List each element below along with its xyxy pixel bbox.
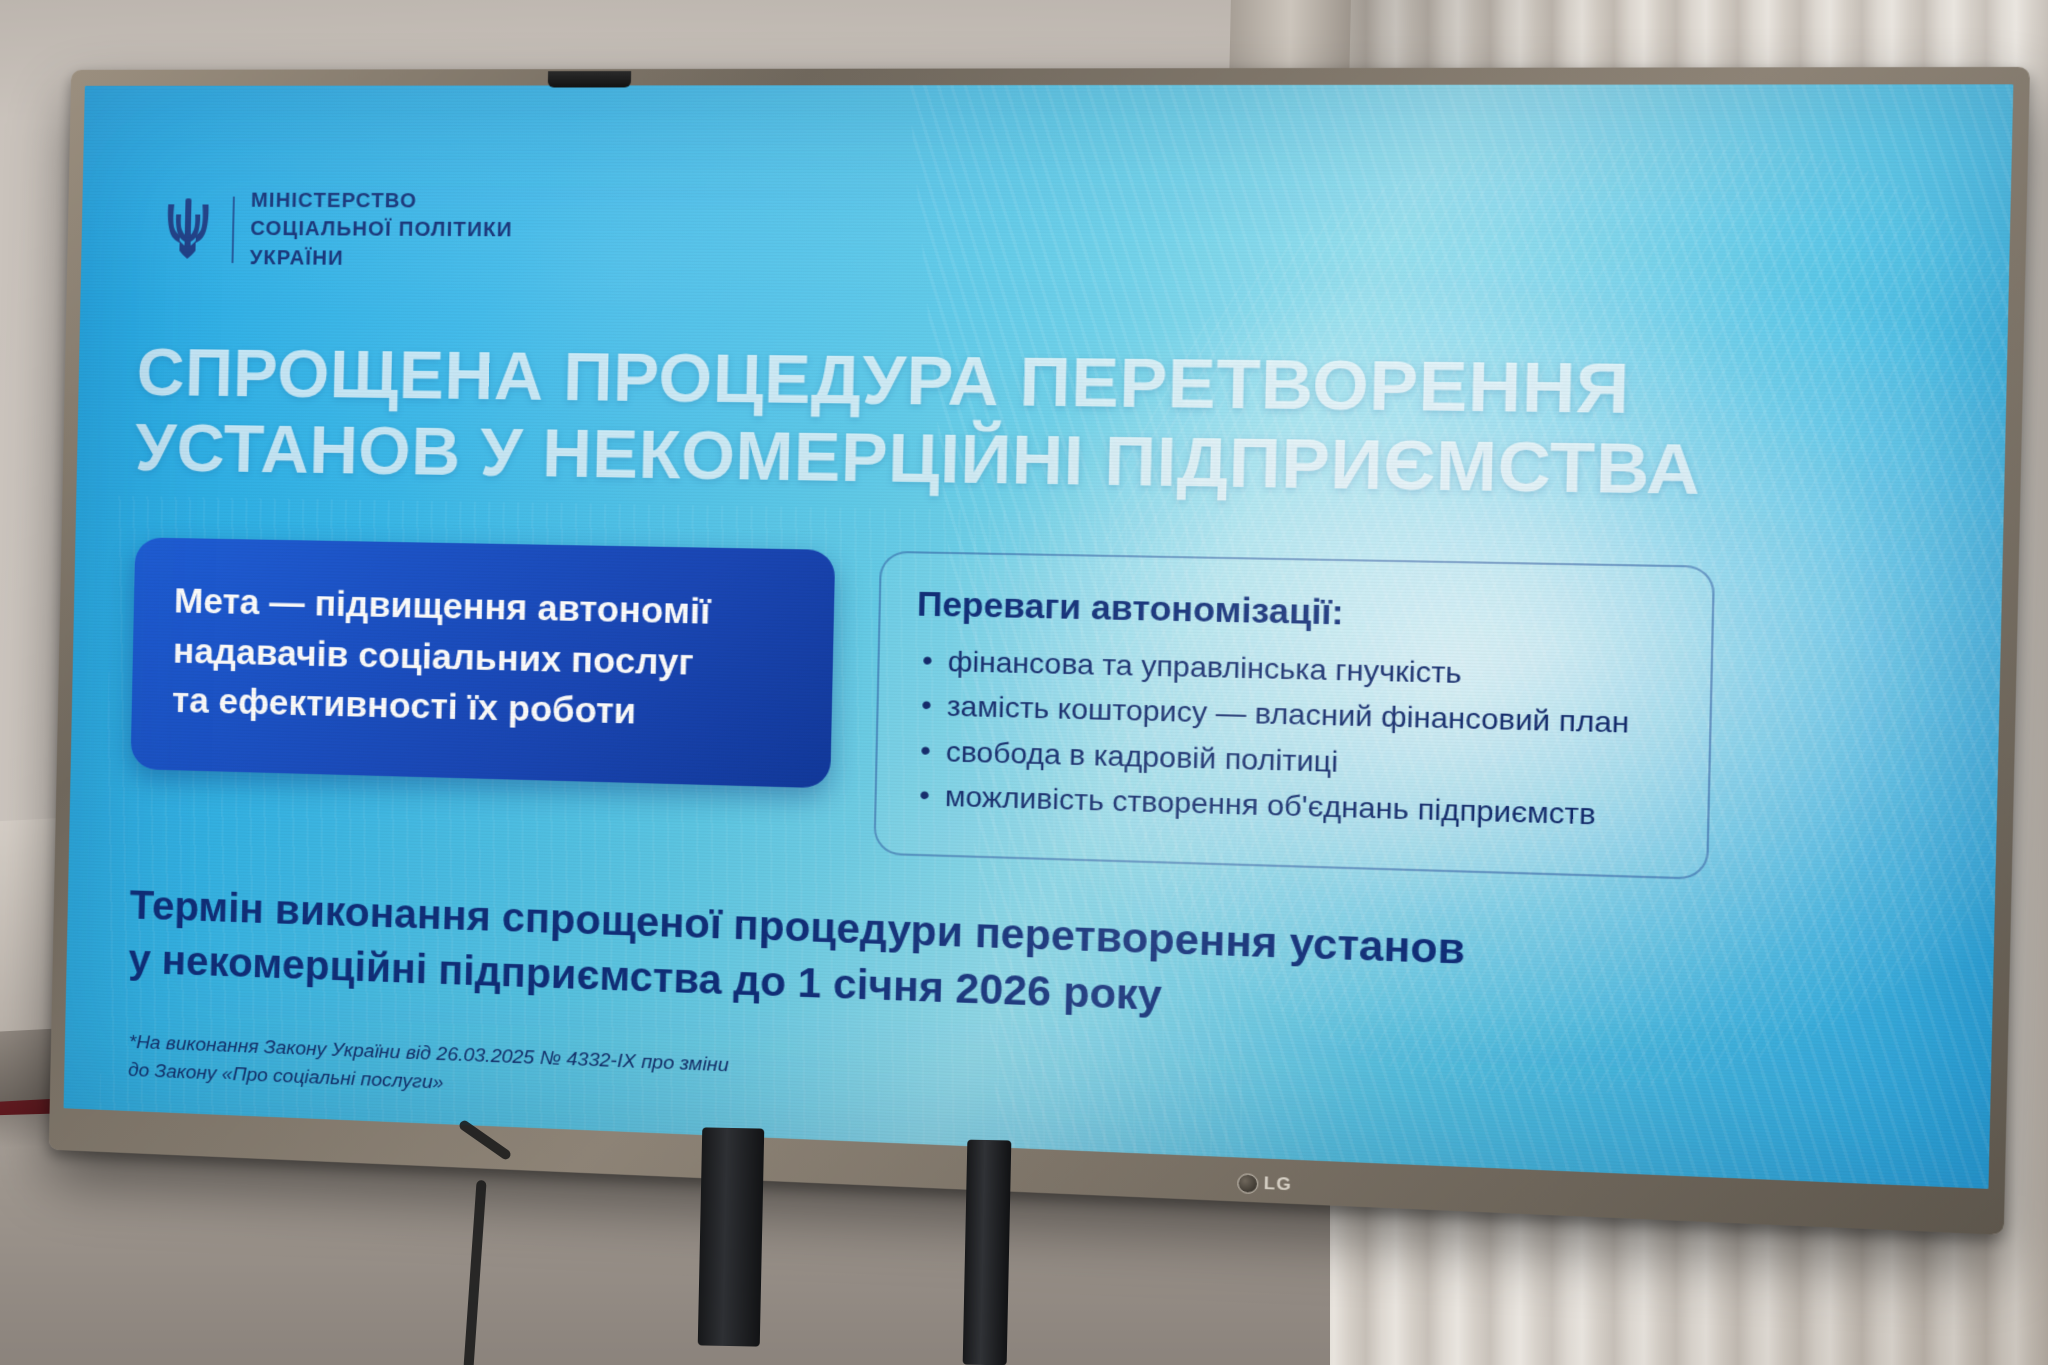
ministry-logo-text: МІНІСТЕРСТВО СОЦІАЛЬНОЇ ПОЛІТИКИ УКРАЇНИ xyxy=(249,187,513,275)
slide-title: СПРОЩЕНА ПРОЦЕДУРА ПЕРЕТВОРЕННЯ УСТАНОВ … xyxy=(134,335,1898,514)
tv-bezel: МІНІСТЕРСТВО СОЦІАЛЬНОЇ ПОЛІТИКИ УКРАЇНИ… xyxy=(49,67,2030,1235)
benefits-box: Переваги автономізації: фінансова та упр… xyxy=(873,551,1715,880)
tv-camera-notch xyxy=(548,71,631,87)
ministry-logo-line-2: СОЦІАЛЬНОЇ ПОЛІТИКИ xyxy=(250,215,513,245)
lg-logo-label: LG xyxy=(1263,1173,1292,1195)
ministry-logo-line-1: МІНІСТЕРСТВО xyxy=(251,187,514,217)
television: МІНІСТЕРСТВО СОЦІАЛЬНОЇ ПОЛІТИКИ УКРАЇНИ… xyxy=(49,67,2030,1235)
ministry-logo: МІНІСТЕРСТВО СОЦІАЛЬНОЇ ПОЛІТИКИ УКРАЇНИ xyxy=(159,186,514,274)
slide-footnote: *На виконання Закону України від 26.03.2… xyxy=(128,1029,729,1109)
goal-text: Мета — підвищення автономії надавачів со… xyxy=(171,576,792,742)
tv-stand-leg-left xyxy=(698,1127,765,1346)
lg-logo-mark xyxy=(1237,1173,1258,1194)
tv-screen[interactable]: МІНІСТЕРСТВО СОЦІАЛЬНОЇ ПОЛІТИКИ УКРАЇНИ… xyxy=(64,84,2014,1189)
goal-callout-box: Мета — підвищення автономії надавачів со… xyxy=(130,537,835,788)
logo-divider xyxy=(231,196,234,262)
tv-stand-leg-right xyxy=(963,1140,1012,1365)
slide-columns: Мета — підвищення автономії надавачів со… xyxy=(129,537,1942,886)
deadline-statement: Термін виконання спрощеної процедури пер… xyxy=(128,878,1913,1053)
presentation-slide: МІНІСТЕРСТВО СОЦІАЛЬНОЇ ПОЛІТИКИ УКРАЇНИ… xyxy=(64,84,2014,1189)
benefits-heading: Переваги автономізації: xyxy=(917,585,1674,640)
room-photo-backdrop: МІНІСТЕРСТВО СОЦІАЛЬНОЇ ПОЛІТИКИ УКРАЇНИ… xyxy=(0,0,2048,1365)
lg-logo-icon: LG xyxy=(1237,1172,1292,1195)
benefits-list: фінансова та управлінська гнучкість замі… xyxy=(912,638,1672,839)
ministry-logo-line-3: УКРАЇНИ xyxy=(249,244,512,274)
ukraine-trident-icon xyxy=(159,190,217,269)
